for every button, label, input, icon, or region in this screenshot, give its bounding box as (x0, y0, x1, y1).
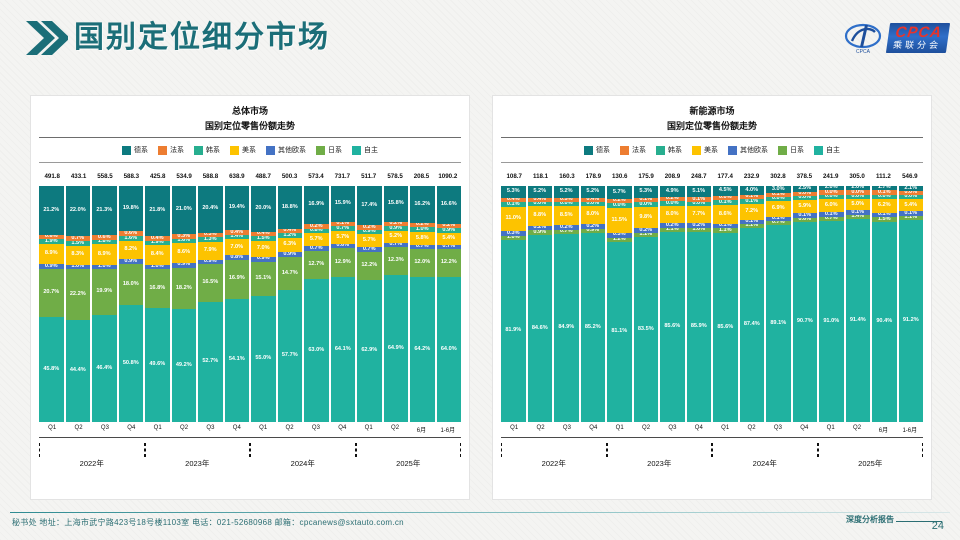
legend-item-日系[interactable]: 日系 (778, 145, 804, 155)
bar-segment-日系: 18.0% (119, 264, 144, 305)
stacked-bar-Q2[interactable]: 5.2%0.4%0.0%8.8%0.2%0.9%84.6% (528, 186, 553, 422)
double-chevron-icon (24, 18, 68, 58)
legend-item-自主[interactable]: 自主 (814, 145, 840, 155)
legend-item-美系[interactable]: 美系 (692, 145, 718, 155)
stacked-bar-Q3[interactable]: 20.4%0.3%1.3%7.9%0.9%16.5%52.7% (198, 186, 223, 422)
legend-label: 韩系 (206, 145, 220, 155)
bar-segment-美系: 8.5% (554, 206, 579, 225)
bar-segment-日系: 19.9% (92, 269, 117, 315)
bar-segment-日系: 20.7% (39, 269, 64, 317)
legend-item-其他欧系[interactable]: 其他欧系 (266, 145, 306, 155)
bar-segment-自主: 55.0% (251, 296, 276, 422)
stacked-bar-Q2[interactable]: 15.8%0.2%0.9%5.2%0.7%12.3%64.9% (384, 186, 409, 422)
bar-segment-自主: 81.1% (607, 242, 632, 422)
bar-segment-日系: 16.9% (225, 260, 250, 299)
chart-axis: Q1Q2Q3Q4Q1Q2Q3Q4Q1Q2Q3Q4Q1Q26月1-6月 2022年… (39, 425, 461, 481)
legend-swatch-icon (316, 146, 325, 155)
bar-segment-德系: 21.3% (92, 186, 117, 235)
cpca-wordmark-cn: 乘联分会 (892, 40, 941, 50)
bar-segment-自主: 45.8% (39, 317, 64, 422)
stacked-bar-Q3[interactable]: 4.9%0.2%0.0%8.0%0.2%1.1%85.6% (660, 186, 685, 422)
chart-title-line1: 新能源市场 (501, 106, 923, 117)
stacked-bar-1-6月[interactable]: 16.6%0.2%0.9%5.4%0.7%12.2%64.0% (437, 186, 462, 422)
total-value: 130.6 (607, 173, 633, 180)
total-value: 433.1 (65, 173, 91, 180)
axis-label: Q4 (118, 425, 144, 437)
bar-segment-美系: 5.4% (899, 199, 924, 211)
stacked-bar-Q2[interactable]: 4.0%0.1%0.1%7.2%0.1%1.1%87.4% (740, 186, 765, 422)
bar-segment-美系: 5.7% (331, 231, 356, 244)
axis-label: Q4 (580, 425, 606, 437)
stacked-bar-Q1[interactable]: 5.7%0.2%0.0%11.5%0.3%1.2%81.1% (607, 186, 632, 422)
axis-label: Q3 (197, 425, 223, 437)
bracket-ticks (818, 443, 924, 457)
bar-segment-自主: 85.6% (713, 233, 738, 422)
bar-segment-美系: 11.5% (607, 208, 632, 234)
total-value: 208.9 (659, 173, 685, 180)
stacked-bar-Q3[interactable]: 5.2%0.5%0.0%8.5%0.2%0.7%84.9% (554, 186, 579, 422)
chart-axis: Q1Q2Q3Q4Q1Q2Q3Q4Q1Q2Q3Q4Q1Q26月1-6月 2022年… (501, 425, 923, 481)
total-value: 175.9 (633, 173, 659, 180)
bar-segment-德系: 15.9% (331, 186, 356, 222)
total-value: 118.1 (527, 173, 553, 180)
axis-label: 6月 (408, 425, 434, 437)
total-value: 160.3 (554, 173, 580, 180)
bar-segment-美系: 8.9% (39, 244, 64, 264)
total-value: 491.8 (39, 173, 65, 180)
bracket-label: 2023年 (145, 458, 251, 469)
axis-label: Q4 (791, 425, 817, 437)
bar-segment-自主: 64.2% (410, 277, 435, 422)
bar-segment-自主: 54.1% (225, 299, 250, 422)
slide-footer: 秘书处 地址：上海市武宁路423号18号楼1103室 电话：021-526809… (0, 506, 960, 540)
stacked-bar-1-6月[interactable]: 2.1%0.0%0.0%5.4%0.1%1.1%91.2% (899, 186, 924, 422)
bracket-ticks (607, 443, 713, 457)
bar-segment-日系: 12.7% (304, 251, 329, 280)
total-value: 178.9 (580, 173, 606, 180)
bar-segment-美系: 6.3% (278, 238, 303, 252)
bar-segment-美系: 5.2% (384, 231, 409, 243)
legend-swatch-icon (620, 146, 629, 155)
total-value: 1090.2 (435, 173, 461, 180)
bar-segment-美系: 5.8% (410, 232, 435, 245)
bar-segment-日系: 12.3% (384, 247, 409, 275)
total-value: 241.9 (818, 173, 844, 180)
bar-segment-德系: 5.2% (554, 186, 579, 198)
bar-segment-德系: 4.0% (740, 186, 765, 195)
bracket-ticks (501, 443, 607, 457)
legend-item-法系[interactable]: 法系 (158, 145, 184, 155)
bar-segment-自主: 44.4% (66, 320, 91, 422)
bar-segment-美系: 8.0% (660, 206, 685, 224)
bar-segment-美系: 8.2% (119, 241, 144, 260)
axis-label: 6月 (870, 425, 896, 437)
year-bracket-2022年: 2022年 (39, 443, 145, 479)
legend-item-韩系[interactable]: 韩系 (194, 145, 220, 155)
bar-segment-日系: 15.1% (251, 262, 276, 297)
legend-item-韩系[interactable]: 韩系 (656, 145, 682, 155)
totals-row: 108.7118.1160.3178.9130.6175.9208.9248.7… (501, 168, 923, 184)
bar-segment-德系: 5.2% (528, 186, 553, 198)
axis-label: Q4 (224, 425, 250, 437)
legend-swatch-icon (266, 146, 275, 155)
legend-label: 德系 (596, 145, 610, 155)
total-value: 500.3 (276, 173, 302, 180)
axis-label: Q3 (303, 425, 329, 437)
total-value: 488.7 (250, 173, 276, 180)
bar-segment-自主: 64.1% (331, 277, 356, 422)
title-divider (39, 137, 461, 138)
year-bracket-2022年: 2022年 (501, 443, 607, 479)
bar-segment-德系: 5.1% (687, 186, 712, 197)
total-value: 534.9 (171, 173, 197, 180)
legend-divider (39, 162, 461, 163)
axis-label: Q4 (329, 425, 355, 437)
bar-segment-美系: 5.7% (304, 233, 329, 246)
total-value: 177.4 (712, 173, 738, 180)
axis-label: Q2 (171, 425, 197, 437)
bar-segment-自主: 57.7% (278, 290, 303, 422)
legend-item-法系[interactable]: 法系 (620, 145, 646, 155)
bracket-label: 2023年 (607, 458, 713, 469)
bar-segment-美系: 5.4% (437, 233, 462, 245)
bar-segment-日系: 16.5% (198, 264, 223, 302)
stacked-bar-Q1[interactable]: 5.3%0.4%0.1%11.0%0.3%1.0%81.9% (501, 186, 526, 422)
stacked-bar-Q1[interactable]: 20.0%0.4%1.5%7.0%0.9%15.1%55.0% (251, 186, 276, 422)
bar-segment-德系: 15.8% (384, 186, 409, 222)
title-divider (501, 137, 923, 138)
total-value: 378.5 (791, 173, 817, 180)
stacked-bar-Q2[interactable]: 5.3%0.1%0.0%9.8%0.2%1.1%83.5% (634, 186, 659, 422)
total-value: 588.3 (118, 173, 144, 180)
bar-segment-德系: 18.8% (278, 186, 303, 229)
total-value: 111.2 (870, 173, 896, 180)
cpca-logo: CPCA CPCA 乘联分会 (844, 20, 948, 56)
year-bracket-2025年: 2025年 (818, 443, 924, 479)
bar-segment-自主: 91.4% (846, 219, 871, 422)
stacked-bar-Q4[interactable]: 15.9%0.1%0.7%5.7%0.6%12.9%64.1% (331, 186, 356, 422)
axis-label: Q2 (844, 425, 870, 437)
total-value: 546.9 (897, 173, 923, 180)
stacked-bar-6月[interactable]: 16.2%0.2%1.0%5.8%0.7%12.0%64.2% (410, 186, 435, 422)
legend-swatch-icon (728, 146, 737, 155)
total-value: 558.5 (92, 173, 118, 180)
total-value: 511.7 (356, 173, 382, 180)
bar-segment-德系: 5.7% (607, 186, 632, 199)
bar-segment-自主: 49.6% (145, 308, 170, 422)
stacked-bar-Q3[interactable]: 16.9%0.2%0.8%5.7%0.7%12.7%63.0% (304, 186, 329, 422)
cpca-emblem-icon: CPCA (844, 21, 884, 55)
axis-label: Q1 (39, 425, 65, 437)
bar-segment-自主: 89.1% (766, 225, 791, 422)
total-value: 108.7 (501, 173, 527, 180)
bracket-label: 2022年 (39, 458, 145, 469)
bar-segment-德系: 19.4% (225, 186, 250, 230)
axis-label: Q3 (92, 425, 118, 437)
svg-text:CPCA: CPCA (856, 49, 871, 55)
bar-segment-美系: 7.9% (198, 242, 223, 260)
bar-segment-自主: 64.9% (384, 275, 409, 422)
stacked-bar-Q4[interactable]: 19.8%0.6%1.6%8.2%0.9%18.0%50.8% (119, 186, 144, 422)
year-bracket-2024年: 2024年 (712, 443, 818, 479)
page-number: 24 (932, 520, 944, 532)
bar-segment-日系: 12.0% (410, 249, 435, 276)
total-value: 232.9 (738, 173, 764, 180)
stacked-bars: 5.3%0.4%0.1%11.0%0.3%1.0%81.9%5.2%0.4%0.… (501, 186, 923, 422)
stacked-bar-Q2[interactable]: 21.0%0.3%1.6%8.6%0.9%18.2%49.2% (172, 186, 197, 422)
axis-label: Q2 (65, 425, 91, 437)
bar-segment-美系: 11.0% (501, 207, 526, 231)
bar-segment-自主: 62.9% (357, 280, 382, 422)
axis-label: Q2 (738, 425, 764, 437)
bar-segment-德系: 5.3% (501, 186, 526, 198)
year-brackets: 2022年2023年2024年2025年 (39, 441, 461, 481)
legend-divider (501, 162, 923, 163)
bar-segment-德系: 22.0% (66, 186, 91, 236)
bar-segment-美系: 5.7% (357, 234, 382, 247)
bracket-ticks (250, 443, 356, 457)
cpca-wordmark-en: CPCA (894, 25, 943, 40)
legend-label: 其他欧系 (740, 145, 768, 155)
legend-label: 其他欧系 (278, 145, 306, 155)
stacked-bar-Q2[interactable]: 22.0%0.7%1.5%8.3%1.0%22.2%44.4% (66, 186, 91, 422)
bar-segment-美系: 7.0% (225, 239, 250, 255)
bar-segment-日系: 12.9% (331, 248, 356, 277)
bar-segment-自主: 63.0% (304, 279, 329, 422)
page-title: 国别定位细分市场 (74, 18, 330, 58)
axis-label: 1-6月 (897, 425, 923, 437)
footer-contact: 秘书处 地址：上海市武宁路423号18号楼1103室 电话：021-526809… (12, 517, 404, 528)
year-bracket-2025年: 2025年 (356, 443, 462, 479)
bar-segment-德系: 5.2% (581, 186, 606, 198)
chart-panel-overall: 总体市场 国别定位零售份额走势 德系法系韩系美系其他欧系日系自主 491.843… (30, 95, 470, 500)
bar-segment-美系: 8.6% (172, 243, 197, 263)
total-value: 588.8 (197, 173, 223, 180)
chart-legend: 德系法系韩系美系其他欧系日系自主 (39, 142, 461, 158)
bar-segment-自主: 85.2% (581, 233, 606, 422)
bar-segment-日系: 16.8% (145, 269, 170, 308)
bar-segment-自主: 85.9% (687, 232, 712, 422)
stacked-bar-Q4[interactable]: 2.5%0.0%0.0%5.9%0.1%0.6%90.7% (793, 186, 818, 422)
bar-segment-德系: 4.5% (713, 186, 738, 196)
legend-label: 韩系 (668, 145, 682, 155)
axis-label: Q3 (765, 425, 791, 437)
bar-segment-自主: 81.9% (501, 240, 526, 422)
bracket-label: 2024年 (250, 458, 356, 469)
axis-label: Q4 (686, 425, 712, 437)
slide-header: 国别定位细分市场 CPCA CPCA 乘联分会 (0, 0, 960, 78)
bar-segment-日系: 12.2% (437, 249, 462, 277)
total-value: 305.0 (844, 173, 870, 180)
stacked-bar-6月[interactable]: 1.7%0.1%0.0%6.2%0.1%1.5%90.4% (872, 186, 897, 422)
bar-segment-日系: 14.7% (278, 257, 303, 291)
axis-label: Q1 (356, 425, 382, 437)
axis-label: Q1 (818, 425, 844, 437)
total-value: 302.8 (765, 173, 791, 180)
bar-segment-自主: 85.6% (660, 232, 685, 422)
axis-label: Q1 (607, 425, 633, 437)
bar-segment-自主: 46.4% (92, 315, 117, 422)
bar-segment-自主: 50.8% (119, 305, 144, 422)
bar-segment-日系: 22.2% (66, 269, 91, 320)
year-brackets: 2022年2023年2024年2025年 (501, 441, 923, 481)
bracket-ticks (356, 443, 462, 457)
bar-segment-美系: 8.9% (92, 244, 117, 264)
bar-segment-美系: 8.0% (581, 206, 606, 224)
bar-segment-自主: 90.4% (872, 222, 897, 422)
bar-segment-自主: 64.0% (437, 277, 462, 422)
legend-label: 美系 (704, 145, 718, 155)
chart-legend: 德系法系韩系美系其他欧系日系自主 (501, 142, 923, 158)
bar-segment-美系: 8.4% (145, 245, 170, 264)
legend-label: 日系 (790, 145, 804, 155)
total-value: 578.5 (382, 173, 408, 180)
bar-segment-美系: 5.0% (846, 199, 871, 210)
bar-segment-美系: 6.0% (819, 199, 844, 212)
bar-segment-美系: 8.6% (713, 205, 738, 224)
axis-line (501, 437, 923, 438)
chart-title-line1: 总体市场 (39, 106, 461, 117)
axis-label: Q1 (501, 425, 527, 437)
bar-segment-自主: 90.7% (793, 222, 818, 422)
legend-label: 德系 (134, 145, 148, 155)
axis-label: Q2 (382, 425, 408, 437)
bar-segment-德系: 16.6% (437, 186, 462, 224)
legend-swatch-icon (158, 146, 167, 155)
axis-label: Q1 (250, 425, 276, 437)
stacked-bar-Q2[interactable]: 2.0%0.0%0.0%5.0%0.1%1.4%91.4% (846, 186, 871, 422)
bar-segment-美系: 7.2% (740, 204, 765, 220)
bar-segment-美系: 8.3% (66, 246, 91, 265)
stacked-bar-Q1[interactable]: 21.2%0.6%1.9%8.9%0.9%20.7%45.8% (39, 186, 64, 422)
legend-item-德系[interactable]: 德系 (584, 145, 610, 155)
bar-segment-德系: 21.2% (39, 186, 64, 235)
legend-label: 自主 (364, 145, 378, 155)
stacked-bars: 21.2%0.6%1.9%8.9%0.9%20.7%45.8%22.0%0.7%… (39, 186, 461, 422)
bar-segment-自主: 83.5% (634, 237, 659, 422)
bar-segment-德系: 21.8% (145, 186, 170, 236)
bar-segment-德系: 5.3% (634, 186, 659, 198)
legend-swatch-icon (584, 146, 593, 155)
bar-segment-日系: 18.2% (172, 268, 197, 310)
legend-item-自主[interactable]: 自主 (352, 145, 378, 155)
bar-segment-美系: 7.0% (251, 241, 276, 257)
stacked-bar-Q4[interactable]: 5.2%0.4%0.0%8.0%0.2%0.9%85.2% (581, 186, 606, 422)
legend-item-美系[interactable]: 美系 (230, 145, 256, 155)
bracket-label: 2025年 (356, 458, 462, 469)
cpca-wordmark: CPCA 乘联分会 (886, 23, 950, 53)
bar-segment-美系: 9.8% (634, 207, 659, 229)
axis-category-labels: Q1Q2Q3Q4Q1Q2Q3Q4Q1Q2Q3Q4Q1Q26月1-6月 (501, 425, 923, 437)
stacked-bar-Q3[interactable]: 3.0%0.1%0.0%6.9%0.1%0.7%89.1% (766, 186, 791, 422)
bracket-ticks (39, 443, 145, 457)
axis-label: Q2 (633, 425, 659, 437)
legend-swatch-icon (122, 146, 131, 155)
legend-swatch-icon (692, 146, 701, 155)
legend-item-其他欧系[interactable]: 其他欧系 (728, 145, 768, 155)
year-bracket-2023年: 2023年 (145, 443, 251, 479)
stacked-bar-Q2[interactable]: 18.8%0.4%1.2%6.3%0.9%14.7%57.7% (278, 186, 303, 422)
bar-segment-自主: 91.0% (819, 221, 844, 422)
bar-segment-德系: 20.4% (198, 186, 223, 233)
legend-item-德系[interactable]: 德系 (122, 145, 148, 155)
bar-segment-美系: 6.2% (872, 199, 897, 213)
legend-label: 法系 (170, 145, 184, 155)
total-value: 731.7 (329, 173, 355, 180)
bar-segment-自主: 87.4% (740, 228, 765, 422)
bar-segment-美系: 7.7% (687, 206, 712, 223)
year-bracket-2024年: 2024年 (250, 443, 356, 479)
legend-label: 自主 (826, 145, 840, 155)
bar-segment-自主: 91.2% (899, 220, 924, 422)
stacked-bar-Q4[interactable]: 19.4%0.4%1.4%7.0%0.8%16.9%54.1% (225, 186, 250, 422)
stacked-bar-Q4[interactable]: 5.1%0.1%0.0%7.7%0.2%1.0%85.9% (687, 186, 712, 422)
bar-segment-德系: 16.9% (304, 186, 329, 224)
bar-segment-自主: 52.7% (198, 302, 223, 422)
stacked-bar-Q1[interactable]: 4.5%0.0%0.1%8.6%0.1%1.1%85.6% (713, 186, 738, 422)
year-bracket-2023年: 2023年 (607, 443, 713, 479)
legend-item-日系[interactable]: 日系 (316, 145, 342, 155)
legend-swatch-icon (194, 146, 203, 155)
chart-title-line2: 国别定位零售份额走势 (501, 121, 923, 132)
legend-label: 美系 (242, 145, 256, 155)
bracket-label: 2025年 (818, 458, 924, 469)
legend-label: 法系 (632, 145, 646, 155)
bar-segment-德系: 16.2% (410, 186, 435, 223)
bar-segment-德系: 3.0% (766, 186, 791, 193)
bar-segment-德系: 20.0% (251, 186, 276, 232)
total-value: 425.8 (145, 173, 171, 180)
legend-swatch-icon (352, 146, 361, 155)
axis-category-labels: Q1Q2Q3Q4Q1Q2Q3Q4Q1Q2Q3Q4Q1Q26月1-6月 (39, 425, 461, 437)
bar-segment-自主: 84.6% (528, 235, 553, 422)
axis-label: Q2 (276, 425, 302, 437)
stacked-bar-Q1[interactable]: 21.8%0.4%1.9%8.4%1.0%16.8%49.6% (145, 186, 170, 422)
bracket-label: 2024年 (712, 458, 818, 469)
legend-swatch-icon (778, 146, 787, 155)
axis-label: Q2 (527, 425, 553, 437)
bar-segment-自主: 84.9% (554, 234, 579, 422)
axis-label: Q1 (145, 425, 171, 437)
bracket-ticks (145, 443, 251, 457)
totals-row: 491.8433.1558.5588.3425.8534.9588.8638.9… (39, 168, 461, 184)
axis-label: Q3 (659, 425, 685, 437)
stacked-bar-Q3[interactable]: 21.3%0.6%1.8%8.9%1.0%19.9%46.4% (92, 186, 117, 422)
bar-segment-德系: 21.0% (172, 186, 197, 234)
stacked-bar-Q1[interactable]: 2.0%0.0%0.0%6.0%0.1%0.7%91.0% (819, 186, 844, 422)
axis-label: 1-6月 (435, 425, 461, 437)
bar-segment-美系: 8.8% (528, 206, 553, 225)
bracket-ticks (712, 443, 818, 457)
bracket-label: 2022年 (501, 458, 607, 469)
legend-label: 日系 (328, 145, 342, 155)
bar-segment-德系: 4.9% (660, 186, 685, 197)
footer-brand-tag: 深度分析报告 (846, 514, 894, 525)
axis-label: Q1 (712, 425, 738, 437)
total-value: 638.9 (224, 173, 250, 180)
stacked-bar-Q1[interactable]: 17.4%0.2%0.9%5.7%0.7%12.2%62.9% (357, 186, 382, 422)
bar-segment-德系: 19.8% (119, 186, 144, 231)
axis-label: Q3 (554, 425, 580, 437)
total-value: 573.4 (303, 173, 329, 180)
bar-segment-德系: 17.4% (357, 186, 382, 225)
footer-divider (10, 512, 950, 513)
legend-swatch-icon (656, 146, 665, 155)
legend-swatch-icon (230, 146, 239, 155)
legend-swatch-icon (814, 146, 823, 155)
bar-segment-美系: 5.9% (793, 200, 818, 213)
bar-segment-日系: 12.2% (357, 252, 382, 280)
